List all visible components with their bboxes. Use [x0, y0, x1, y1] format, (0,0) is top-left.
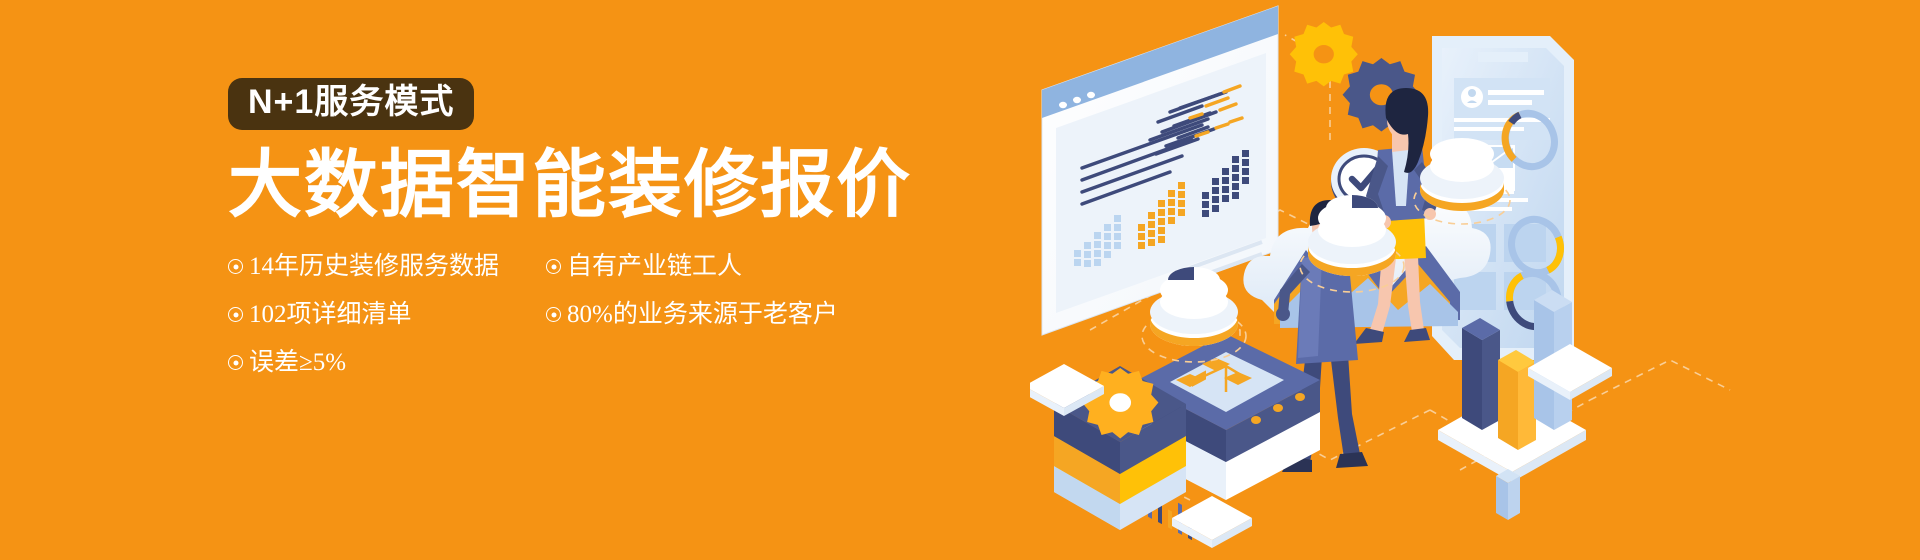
- promo-banner: N+1服务模式 大数据智能装修报价 14年历史装修服务数据 102项详细清单 误…: [0, 0, 1920, 560]
- feature-column-1: 14年历史装修服务数据 102项详细清单 误差≥5%: [228, 254, 546, 398]
- list-item-label: 102项详细清单: [249, 302, 412, 327]
- list-item: 误差≥5%: [228, 350, 546, 375]
- browser-window-dashboard: [1042, 6, 1278, 335]
- hero-illustration: [1030, 0, 1920, 560]
- list-item: 14年历史装修服务数据: [228, 254, 546, 279]
- circled-dot-icon: [546, 307, 561, 322]
- feature-column-2: 自有产业链工人 80%的业务来源于老客户: [546, 254, 846, 398]
- small-pillar: [1496, 469, 1520, 520]
- floating-tile: [1172, 496, 1252, 548]
- feature-list: 14年历史装修服务数据 102项详细清单 误差≥5% 自有产业链工人: [228, 254, 848, 398]
- text-block: N+1服务模式 大数据智能装修报价 14年历史装修服务数据 102项详细清单 误…: [228, 78, 988, 398]
- circled-dot-icon: [228, 307, 243, 322]
- list-item-label: 自有产业链工人: [567, 254, 742, 279]
- gear-yellow: [1290, 22, 1358, 86]
- list-item-label: 80%的业务来源于老客户: [567, 302, 838, 327]
- circled-dot-icon: [546, 259, 561, 274]
- list-item-label: 14年历史装修服务数据: [249, 254, 499, 279]
- list-item: 80%的业务来源于老客户: [546, 302, 846, 327]
- list-item: 102项详细清单: [228, 302, 546, 327]
- list-item-label: 误差≥5%: [249, 350, 346, 375]
- service-mode-badge: N+1服务模式: [228, 78, 474, 130]
- list-item: 自有产业链工人: [546, 254, 846, 279]
- circled-dot-icon: [228, 355, 243, 370]
- page-title: 大数据智能装修报价: [228, 146, 988, 224]
- circled-dot-icon: [228, 259, 243, 274]
